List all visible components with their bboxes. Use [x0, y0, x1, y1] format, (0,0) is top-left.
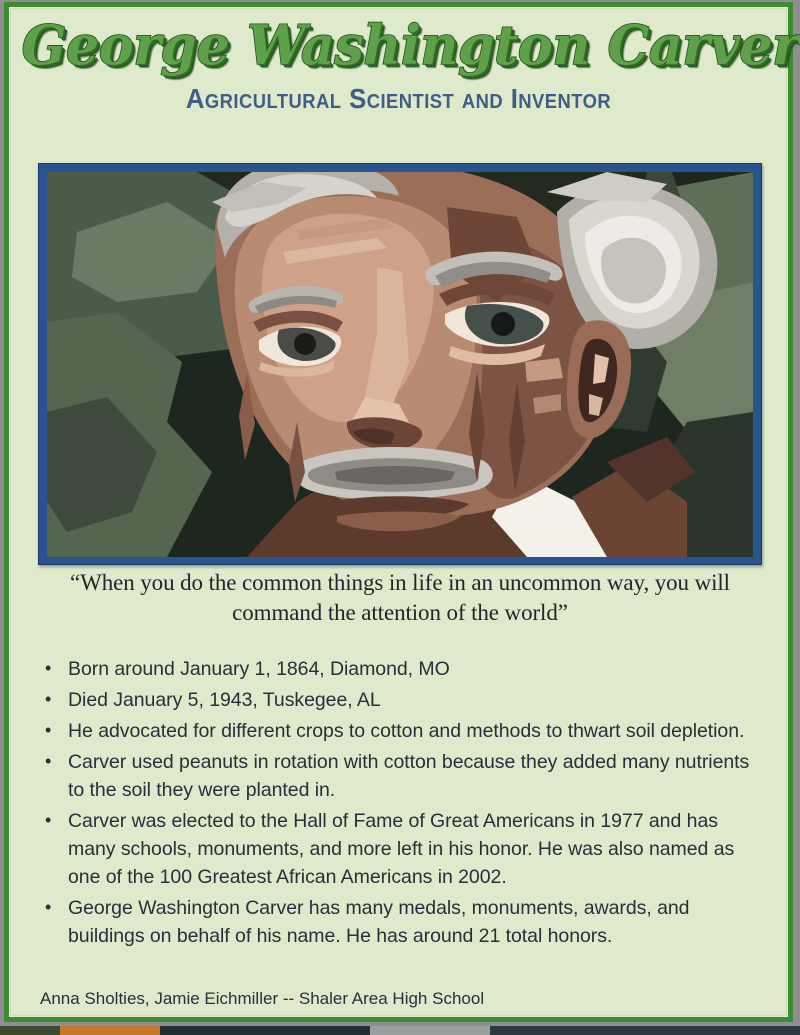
portrait-image — [47, 172, 753, 557]
facts-list: Born around January 1, 1864, Diamond, MO… — [42, 655, 754, 953]
swatch-slate — [490, 1026, 800, 1035]
swatch-dark-teal — [160, 1026, 370, 1035]
list-item: Carver was elected to the Hall of Fame o… — [42, 807, 754, 891]
swatch-olive — [0, 1026, 60, 1035]
swatch-orange — [60, 1026, 160, 1035]
list-item: Died January 5, 1943, Tuskegee, AL — [42, 686, 754, 714]
credit-line: Anna Sholties, Jamie Eichmiller -- Shale… — [40, 988, 752, 1010]
list-item: George Washington Carver has many medals… — [42, 894, 754, 950]
list-item: Born around January 1, 1864, Diamond, MO — [42, 655, 754, 683]
page-title: George Washington Carver — [22, 14, 776, 76]
list-item: Carver used peanuts in rotation with cot… — [42, 748, 754, 804]
list-item: He advocated for different crops to cott… — [42, 717, 754, 745]
swatch-gray — [370, 1026, 490, 1035]
title-block: George Washington Carver Agricultural Sc… — [10, 14, 787, 116]
quote-text: “When you do the common things in life i… — [40, 568, 760, 628]
poster: George Washington Carver Agricultural Sc… — [0, 0, 800, 1035]
portrait-illustration — [47, 172, 753, 557]
portrait-frame — [38, 163, 762, 565]
page-subtitle: Agricultural Scientist and Inventor — [41, 82, 756, 116]
bottom-swatch-strip — [0, 1026, 800, 1035]
